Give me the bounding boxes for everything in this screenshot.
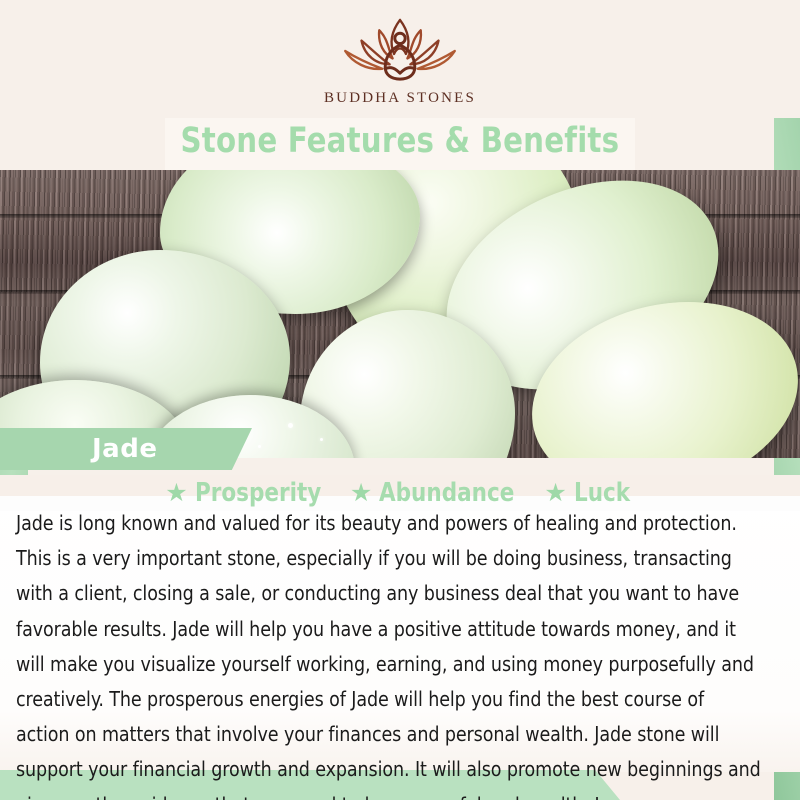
star-icon: ★ (544, 481, 566, 506)
keyword-label: Luck (574, 478, 630, 508)
keyword-item-luck: ★ Luck (544, 478, 634, 508)
infographic-page: BUDDHA STONES Stone Features & Benefits … (0, 0, 800, 800)
sparkle-highlight (320, 438, 323, 441)
sparkle-highlight (288, 423, 293, 428)
keyword-label: Prosperity (195, 478, 321, 508)
sparkle-highlight (258, 445, 261, 448)
star-icon: ★ (350, 481, 372, 506)
keyword-label: Abundance (379, 478, 514, 508)
page-title: Stone Features & Benefits (181, 121, 620, 161)
jade-stones-photo (0, 170, 800, 458)
brand-name: BUDDHA STONES (324, 90, 476, 107)
star-icon: ★ (165, 481, 187, 506)
title-banner: Stone Features & Benefits (165, 112, 635, 170)
keyword-item-abundance: ★ Abundance (350, 478, 527, 508)
lotus-meditation-icon (325, 14, 475, 88)
stone-name-label: Jade (92, 434, 157, 464)
brand-header: BUDDHA STONES (0, 0, 800, 118)
keyword-item-prosperity: ★ Prosperity (165, 478, 332, 508)
stone-name-band: Jade (0, 428, 252, 470)
description-paragraph: Jade is long known and valued for its be… (16, 506, 761, 800)
